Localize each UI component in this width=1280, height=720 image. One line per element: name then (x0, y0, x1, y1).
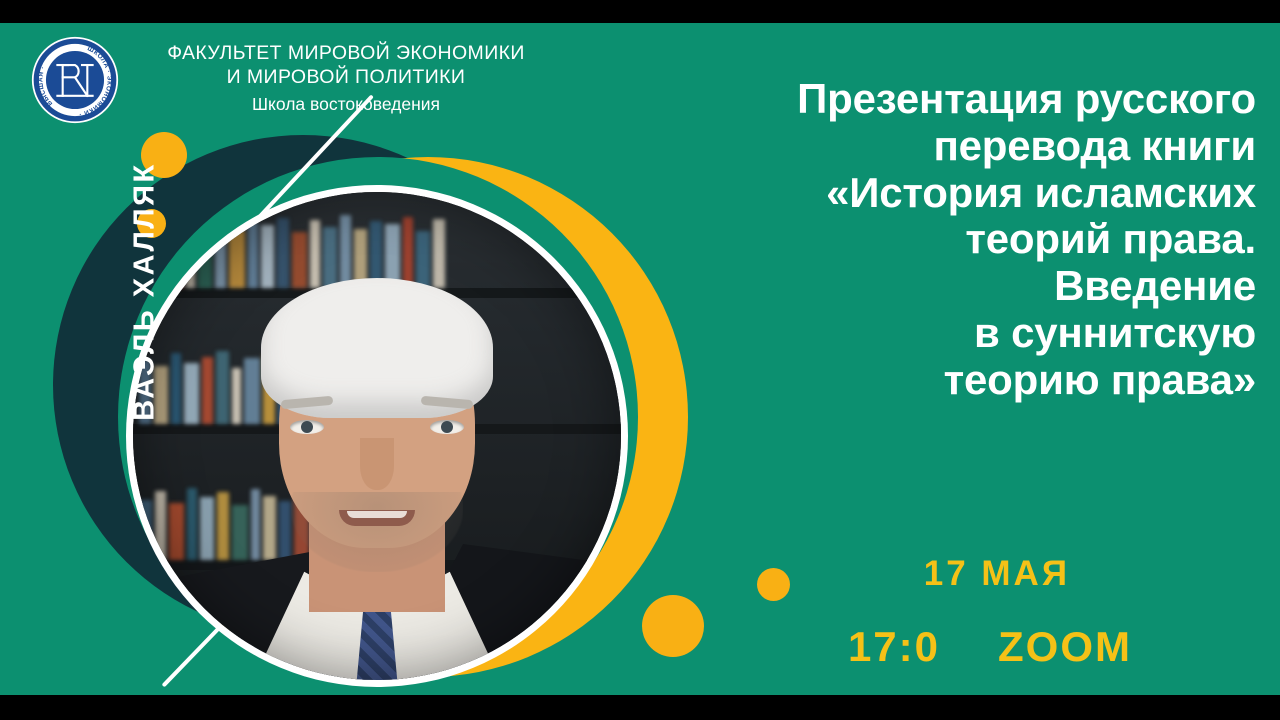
poster-stage: ВАЭЛЬ ХАЛЛЯК ШКОЛА · ЭКОНОМИКИ · ВЫСШАЯ … (0, 0, 1280, 720)
orange-dot-bottom-large-icon (642, 595, 704, 657)
hse-logo-icon: ШКОЛА · ЭКОНОМИКИ · ВЫСШАЯ · (31, 36, 119, 124)
faculty-heading: ФАКУЛЬТЕТ МИРОВОЙ ЭКОНОМИКИ И МИРОВОЙ ПО… (136, 42, 556, 115)
speaker-name-vertical: ВАЭЛЬ ХАЛЛЯК (129, 142, 162, 442)
faculty-line-3: Школа востоковедения (136, 94, 556, 115)
title-line-5: Введение (616, 263, 1256, 310)
event-date: 17 МАЯ (924, 554, 1070, 594)
event-platform: ZOOM (998, 623, 1132, 671)
event-time: 17:0 (848, 623, 940, 671)
title-line-7: теорию права» (616, 357, 1256, 404)
title-line-2: перевода книги (616, 123, 1256, 170)
title-line-3: «История исламских (616, 170, 1256, 217)
event-title: Презентация русского перевода книги «Ист… (616, 76, 1256, 404)
title-line-4: теорий права. (616, 216, 1256, 263)
letterbox-bottom (0, 695, 1280, 720)
title-line-1: Презентация русского (616, 76, 1256, 123)
orange-dot-bottom-small-icon (757, 568, 790, 601)
speaker-portrait (133, 192, 621, 680)
event-time-platform: 17:0 ZOOM (848, 623, 1132, 671)
title-line-6: в суннитскую (616, 310, 1256, 357)
faculty-line-2: И МИРОВОЙ ПОЛИТИКИ (136, 66, 556, 90)
faculty-line-1: ФАКУЛЬТЕТ МИРОВОЙ ЭКОНОМИКИ (136, 42, 556, 66)
letterbox-top (0, 0, 1280, 23)
poster-canvas: ВАЭЛЬ ХАЛЛЯК ШКОЛА · ЭКОНОМИКИ · ВЫСШАЯ … (0, 23, 1280, 695)
speaker-portrait-frame (126, 185, 628, 687)
